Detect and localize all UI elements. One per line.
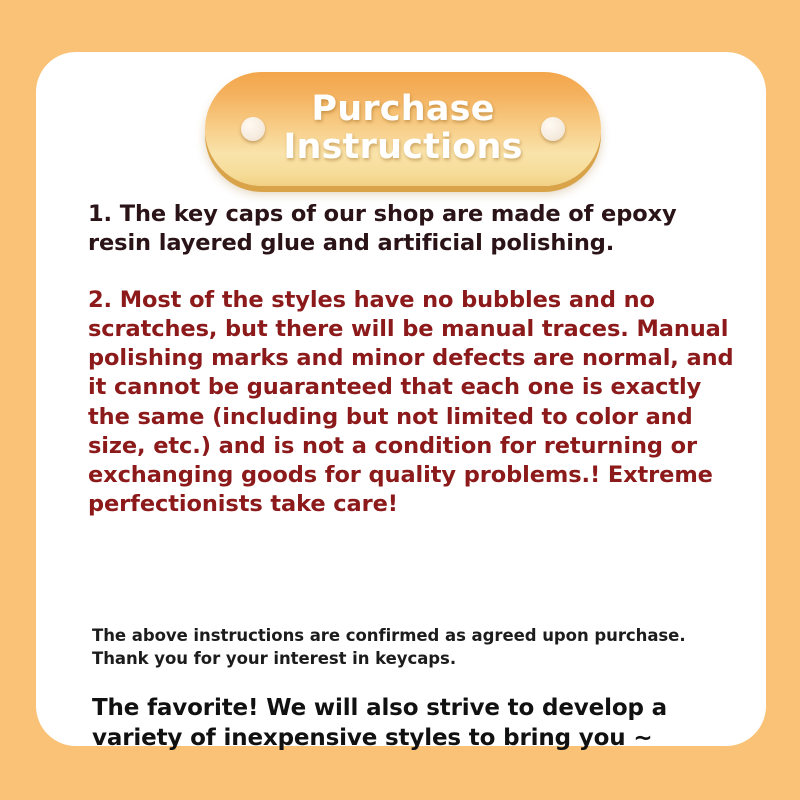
content-card: Purchase Instructions 1. The key caps of… bbox=[36, 52, 766, 746]
purchase-instructions-poster: Purchase Instructions 1. The key caps of… bbox=[0, 0, 800, 800]
closing-statement: The favorite! We will also strive to dev… bbox=[92, 694, 740, 754]
rivet-left-icon bbox=[241, 117, 265, 141]
title-line-2: Instructions bbox=[283, 129, 522, 167]
agreement-footnote: The above instructions are confirmed as … bbox=[92, 624, 740, 671]
body-copy: 1. The key caps of our shop are made of … bbox=[88, 200, 740, 754]
title-plate: Purchase Instructions bbox=[205, 72, 601, 186]
instruction-paragraph-2: 2. Most of the styles have no bubbles an… bbox=[88, 286, 740, 520]
title-line-1: Purchase bbox=[311, 91, 494, 129]
instruction-paragraph-1: 1. The key caps of our shop are made of … bbox=[88, 200, 740, 259]
rivet-right-icon bbox=[541, 117, 565, 141]
